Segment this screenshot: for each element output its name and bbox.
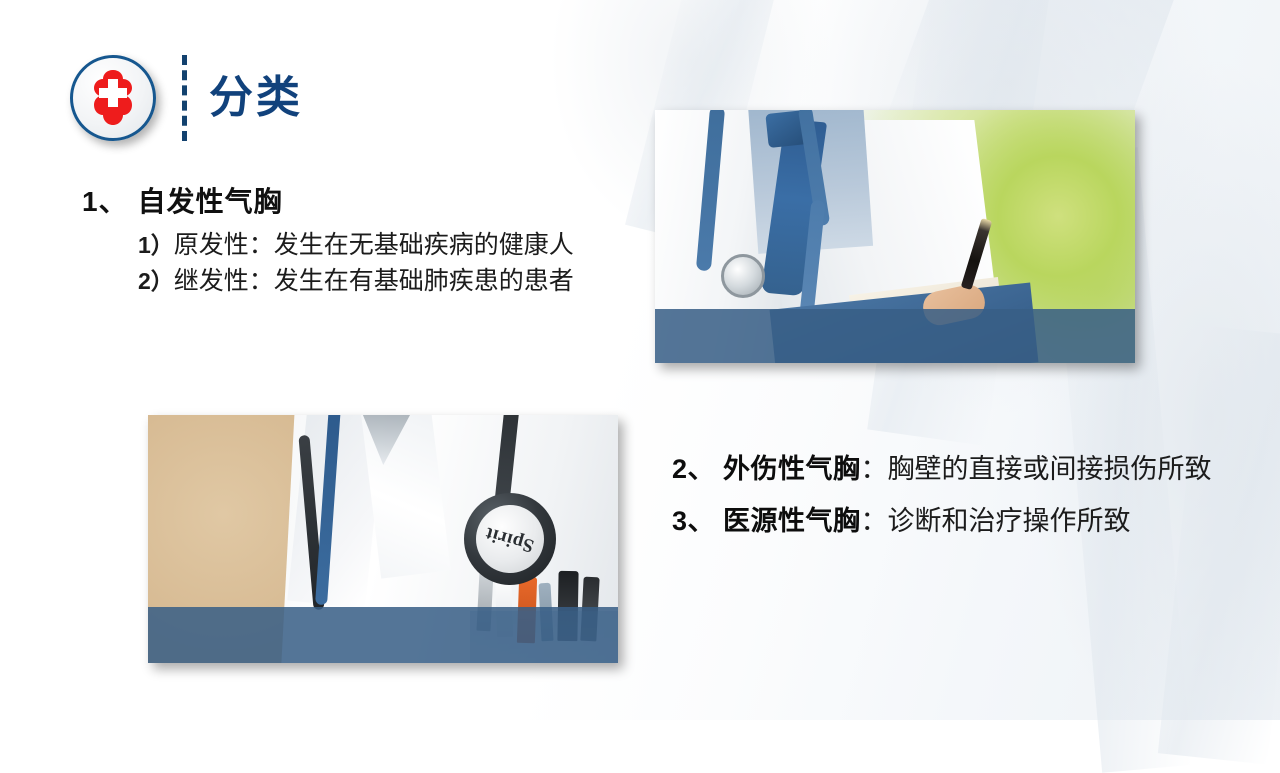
subitem-1-marker: 1） (138, 232, 174, 258)
section-spontaneous-pneumothorax: 1、自发性气胸 1）原发性：发生在无基础疾病的健康人 2）继发性：发生在有基础肺… (82, 180, 642, 301)
section-3-title: 医源性气胸 (723, 506, 861, 536)
header-dashed-divider (182, 55, 187, 141)
slide-header: 分类 (70, 48, 303, 148)
photo-stethoscope-chestpiece-inner: Spirit (476, 505, 544, 573)
photo-stethoscope-chestpiece (721, 254, 765, 298)
section-3-lead: 3、医源性气胸 (672, 506, 861, 536)
sections-traumatic-and-iatrogenic: 2、外伤性气胸：胸壁的直接或间接损伤所致 3、医源性气胸：诊断和治疗操作所致 (672, 446, 1224, 551)
section-3-paragraph: 3、医源性气胸：诊断和治疗操作所致 (672, 498, 1224, 544)
section-2-body: ：胸壁的直接或间接损伤所致 (861, 454, 1212, 484)
subitem-2-marker: 2） (138, 268, 174, 294)
section-2-title: 外伤性气胸 (723, 454, 861, 484)
photo-doctor-with-clipboard (655, 110, 1135, 363)
photo-stethoscope-brand-label: Spirit (483, 522, 537, 557)
section-2-lead: 2、外伤性气胸 (672, 454, 861, 484)
section-1-heading: 1、自发性气胸 (82, 180, 642, 220)
subitem-1-text: 原发性：发生在无基础疾病的健康人 (174, 232, 574, 259)
photo-bottom-band (148, 607, 618, 663)
subitem-2-text: 继发性：发生在有基础肺疾患的患者 (174, 268, 574, 295)
section-1-subitem-2: 2）继发性：发生在有基础肺疾患的患者 (82, 264, 642, 300)
photo-bottom-band (655, 309, 1135, 363)
page-title: 分类 (209, 76, 303, 120)
section-1-number: 1、 (82, 186, 128, 217)
section-1-subitem-1: 1）原发性：发生在无基础疾病的健康人 (82, 228, 642, 264)
section-2-paragraph: 2、外伤性气胸：胸壁的直接或间接损伤所致 (672, 446, 1224, 492)
section-2-number: 2、 (672, 454, 715, 484)
section-1-title: 自发性气胸 (138, 186, 283, 217)
photo-stethoscope-on-coat: Spirit (148, 415, 618, 663)
section-3-body: ：诊断和治疗操作所致 (861, 506, 1131, 536)
medical-cross-badge-icon (70, 55, 156, 141)
section-3-number: 3、 (672, 506, 715, 536)
